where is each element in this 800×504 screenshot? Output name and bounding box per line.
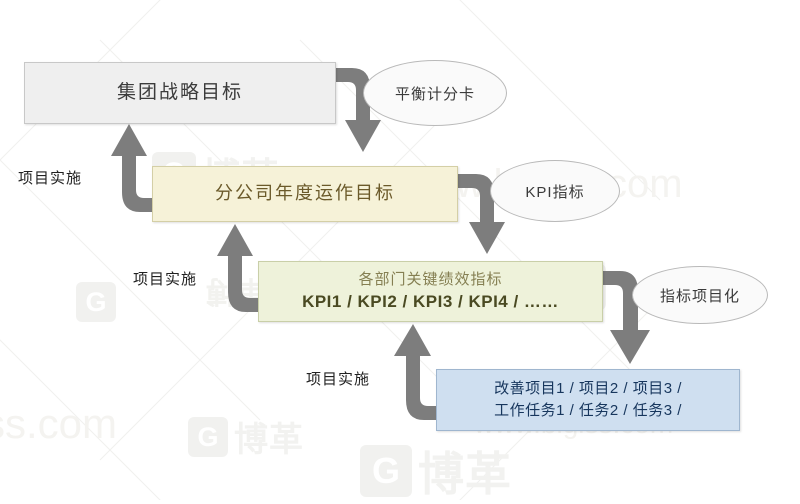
ellipse-projectize-label: 指标项目化 <box>660 285 740 306</box>
ellipse-kpi-indicator[interactable]: KPI指标 <box>490 160 620 222</box>
box-branch-annual-goal[interactable]: 分公司年度运作目标 <box>152 166 458 222</box>
box-project-line2: 工作任务1 / 任务2 / 任务3 / <box>494 400 682 422</box>
box-annual-label: 分公司年度运作目标 <box>215 182 395 205</box>
diagram-canvas: G 博革 G 革博 G 博革 G 博革 G ss.com www.bigiss.… <box>0 0 800 500</box>
ellipse-bsc-label: 平衡计分卡 <box>395 83 475 104</box>
label-project-implementation-3: 项目实施 <box>306 368 370 389</box>
ellipse-kpi-label: KPI指标 <box>525 181 584 202</box>
box-group-strategy-goal[interactable]: 集团战略目标 <box>24 62 336 124</box>
box-improvement-projects[interactable]: 改善项目1 / 项目2 / 项目3 / 工作任务1 / 任务2 / 任务3 / <box>436 369 740 431</box>
ellipse-indicator-projectize[interactable]: 指标项目化 <box>632 266 768 324</box>
content-layer: 集团战略目标 分公司年度运作目标 各部门关键绩效指标 KPI1 / KPI2 /… <box>0 0 800 500</box>
box-project-line1: 改善项目1 / 项目2 / 项目3 / <box>494 378 682 400</box>
box-department-kpi[interactable]: 各部门关键绩效指标 KPI1 / KPI2 / KPI3 / KPI4 / …… <box>258 261 603 322</box>
label-project-implementation-1: 项目实施 <box>18 167 82 188</box>
label-project-implementation-2: 项目实施 <box>133 268 197 289</box>
box-strategy-label: 集团战略目标 <box>117 81 243 105</box>
ellipse-balanced-scorecard[interactable]: 平衡计分卡 <box>363 60 507 126</box>
box-kpi-title: 各部门关键绩效指标 <box>358 270 502 289</box>
box-kpi-list: KPI1 / KPI2 / KPI3 / KPI4 / …… <box>302 291 559 313</box>
